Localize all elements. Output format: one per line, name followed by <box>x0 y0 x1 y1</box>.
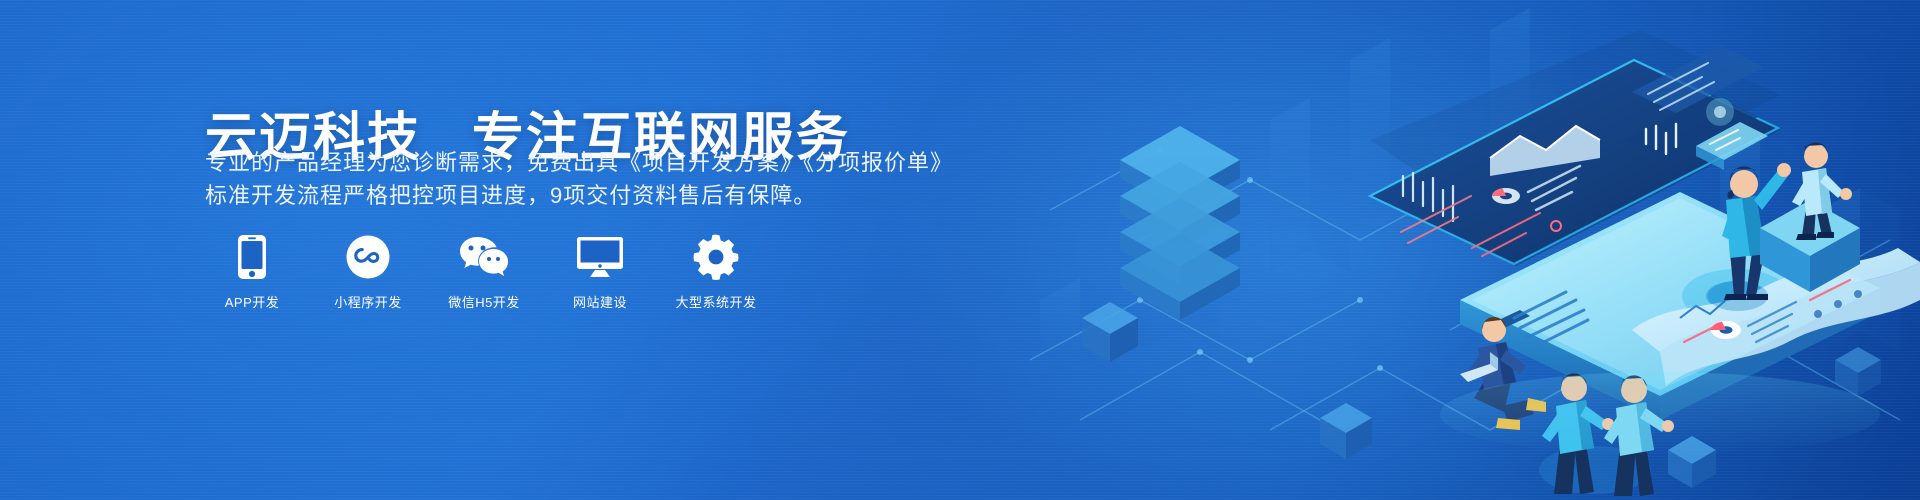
subtitle-line-2: 标准开发流程严格把控项目进度，9项交付资料售后有保障。 <box>205 179 905 212</box>
banner-content: 云迈科技 专注互联网服务 专业的产品经理为您诊断需求，免费出具《项目开发方案》《… <box>205 0 965 500</box>
service-label-wechat: 微信H5开发 <box>448 295 520 311</box>
service-label-miniprogram: 小程序开发 <box>334 295 402 311</box>
gear-icon <box>693 232 739 282</box>
service-label-system: 大型系统开发 <box>675 295 756 311</box>
screen-donut-chart <box>1492 188 1520 204</box>
ribbon-donut <box>1711 321 1741 339</box>
service-icon-row: APP开发 小程序开发 <box>210 232 758 311</box>
service-item-website[interactable]: 网站建设 <box>558 232 642 311</box>
service-item-system[interactable]: 大型系统开发 <box>674 232 758 311</box>
subtitle-line-1: 专业的产品经理为您诊断需求，免费出具《项目开发方案》《分项报价单》 <box>205 146 905 179</box>
service-item-app[interactable]: APP开发 <box>210 232 294 311</box>
service-label-website: 网站建设 <box>573 295 627 311</box>
wechat-icon <box>458 232 510 282</box>
server-stack <box>1120 126 1240 320</box>
service-item-miniprogram[interactable]: 小程序开发 <box>326 232 410 311</box>
hero-banner: 云迈科技 专注互联网服务 专业的产品经理为您诊断需求，免费出具《项目开发方案》《… <box>0 0 1920 500</box>
service-item-wechat[interactable]: 微信H5开发 <box>442 232 526 311</box>
mobile-phone-icon <box>237 232 267 282</box>
mini-program-icon <box>346 232 390 282</box>
isometric-tech-illustration <box>1020 0 1920 500</box>
monitor-icon <box>576 232 624 282</box>
banner-subtitle: 专业的产品经理为您诊断需求，免费出具《项目开发方案》《分项报价单》 标准开发流程… <box>205 146 905 212</box>
service-label-app: APP开发 <box>225 295 280 311</box>
